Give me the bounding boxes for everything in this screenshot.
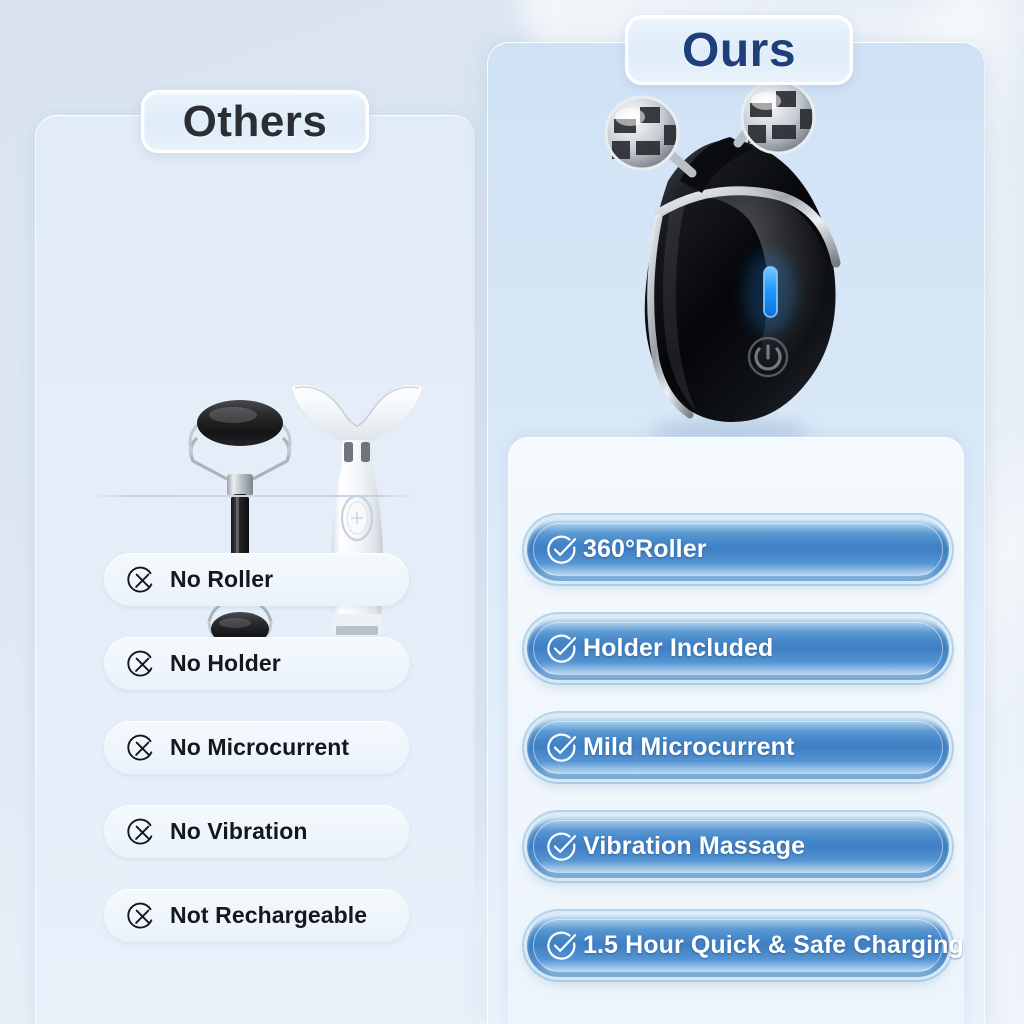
circle-x-icon — [127, 565, 157, 595]
ours-list-item[interactable]: 360°Roller — [527, 518, 949, 581]
circle-check-icon — [545, 929, 578, 962]
circle-x-icon — [127, 817, 157, 847]
others-divider — [92, 495, 414, 497]
ours-list-item-label: 1.5 Hour Quick & Safe Charging — [583, 931, 964, 960]
others-list-item[interactable]: No Vibration — [104, 805, 409, 858]
ours-list-item-label: Mild Microcurrent — [583, 733, 794, 762]
others-list-item-label: No Holder — [170, 650, 281, 677]
ours-title-badge: Ours — [625, 15, 853, 85]
others-list-item[interactable]: No Holder — [104, 637, 409, 690]
others-list-item-label: No Vibration — [170, 818, 308, 845]
ours-list-item[interactable]: Vibration Massage — [527, 815, 949, 878]
ours-feature-list: 360°Roller Holder Included Mild Microcur… — [527, 518, 949, 977]
circle-x-icon — [127, 901, 157, 931]
others-list-item[interactable]: Not Rechargeable — [104, 889, 409, 942]
circle-check-icon — [545, 830, 578, 863]
others-feature-list: No Roller No Holder No Microcurrent No V… — [104, 553, 409, 942]
circle-check-icon — [545, 533, 578, 566]
others-list-item-label: Not Rechargeable — [170, 902, 367, 929]
ours-list-item[interactable]: 1.5 Hour Quick & Safe Charging — [527, 914, 949, 977]
ours-title-label: Ours — [682, 23, 796, 78]
ours-list-item-label: 360°Roller — [583, 535, 707, 564]
circle-x-icon — [127, 649, 157, 679]
ours-list-item-label: Holder Included — [583, 634, 773, 663]
ours-list-item[interactable]: Holder Included — [527, 617, 949, 680]
others-list-item-label: No Microcurrent — [170, 734, 349, 761]
ours-list-item[interactable]: Mild Microcurrent — [527, 716, 949, 779]
others-title-badge: Others — [141, 90, 369, 153]
others-list-item[interactable]: No Roller — [104, 553, 409, 606]
circle-check-icon — [545, 632, 578, 665]
ours-product-device-image — [540, 85, 870, 455]
circle-x-icon — [127, 733, 157, 763]
others-product-images — [35, 180, 475, 480]
others-title-label: Others — [183, 97, 328, 147]
others-list-item-label: No Roller — [170, 566, 273, 593]
circle-check-icon — [545, 731, 578, 764]
ours-list-item-label: Vibration Massage — [583, 832, 805, 861]
others-list-item[interactable]: No Microcurrent — [104, 721, 409, 774]
